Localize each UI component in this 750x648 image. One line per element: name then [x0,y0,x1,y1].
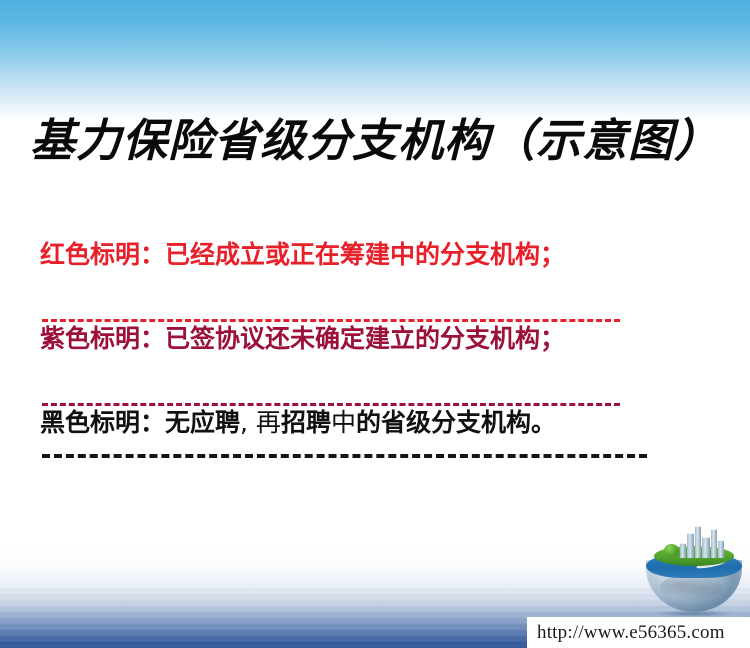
legend-block: 红色标明：已经成立或正在筹建中的分支机构； 紫色标明：已签协议还未确定建立的分支… [40,238,710,458]
city-buildings-icon [680,526,724,558]
legend-label-black: 黑色标明：无应聘, 再招聘中的省级分支机构。 [40,406,710,440]
building-1 [680,543,686,558]
legend-divider-black [42,454,647,458]
page-title: 基力保险省级分支机构（示意图） [0,104,750,169]
legend-label-black-part3: 的省级分支机构。 [356,408,556,437]
legend-label-purple: 紫色标明：已签协议还未确定建立的分支机构； [40,322,710,356]
legend-label-black-prefix: 黑色标明： [40,408,165,437]
legend-row-red: 红色标明：已经成立或正在筹建中的分支机构； [40,238,710,322]
legend-gap-purple [40,356,710,390]
slide-canvas: 基力保险省级分支机构（示意图） 红色标明：已经成立或正在筹建中的分支机构； 紫色… [0,0,750,648]
building-6 [718,540,724,558]
watermark-url-box: http://www.e56365.com [527,617,750,648]
top-gradient-band [0,0,750,120]
legend-row-black: 黑色标明：无应聘, 再招聘中的省级分支机构。 [40,406,710,458]
legend-label-black-thin1: , 再 [240,408,281,437]
building-4 [702,537,710,558]
globe-city-logo-icon [640,524,748,618]
legend-row-purple: 紫色标明：已签协议还未确定建立的分支机构； [40,322,710,406]
legend-label-red: 红色标明：已经成立或正在筹建中的分支机构； [40,238,710,272]
legend-label-black-part1: 无应聘 [165,408,240,437]
watermark-url-text: http://www.e56365.com [527,622,725,644]
building-2 [687,533,694,558]
legend-label-black-part2: 招聘 [281,408,331,437]
building-5 [711,529,717,558]
tree-icon [664,544,679,557]
legend-gap-red [40,272,710,306]
legend-label-black-thin2: 中 [331,408,356,437]
building-3 [695,526,701,558]
